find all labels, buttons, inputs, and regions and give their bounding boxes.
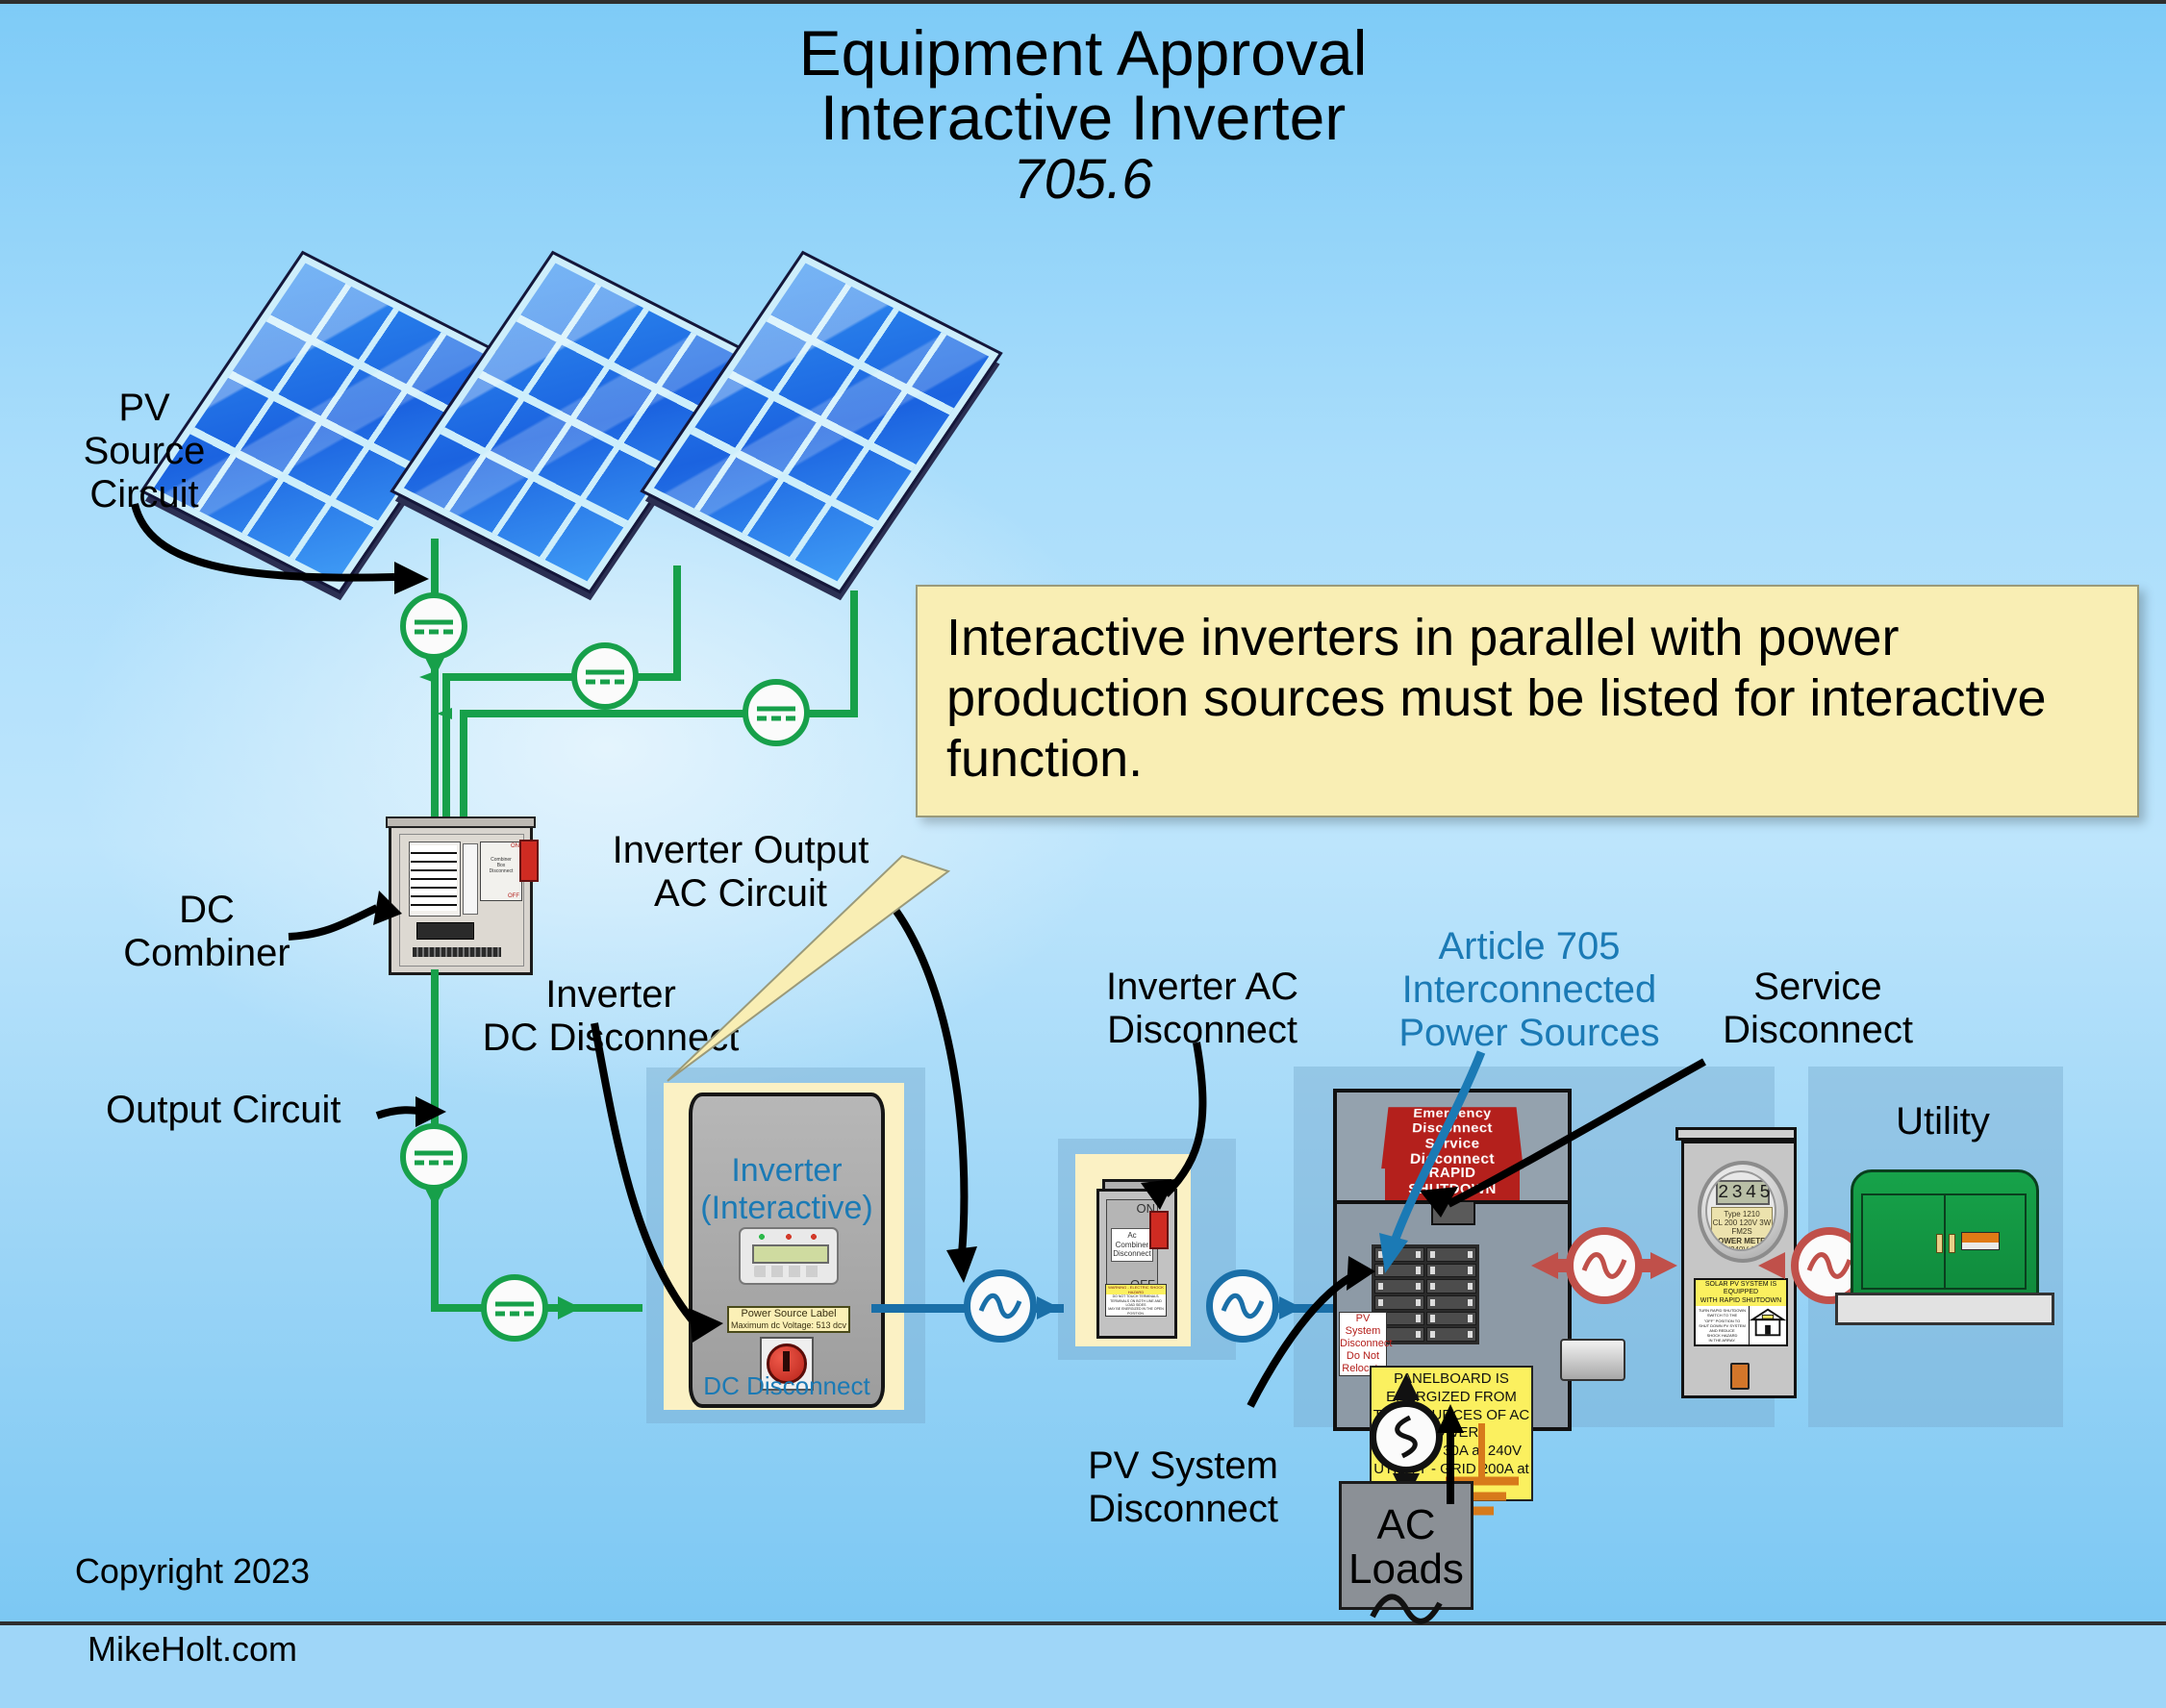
label-inverter-ac-disconnect: Inverter AC Disconnect [1077,966,1327,1052]
diagram-canvas: Equipment Approval Interactive Inverter … [0,0,2166,1625]
callout-text: Interactive inverters in parallel with p… [946,609,2047,788]
label-article-705: Article 705 Interconnected Power Sources [1337,925,1722,1054]
label-dc-combiner: DC Combiner [106,889,308,975]
label-utility: Utility [1847,1100,2039,1143]
copyright-notice: Copyright 2023 MikeHolt.com [29,1514,356,1708]
callout-tail [664,854,952,1085]
label-service-disconnect: Service Disconnect [1674,966,1962,1052]
label-pv-source-circuit: PV Source Circuit [38,387,250,515]
label-pv-system-disconnect: PV System Disconnect [1039,1444,1327,1531]
copyright-line-1: Copyright 2023 [29,1552,356,1591]
label-output-circuit: Output Circuit [106,1089,394,1132]
copyright-line-2: MikeHolt.com [29,1630,356,1669]
callout-box: Interactive inverters in parallel with p… [916,585,2139,817]
